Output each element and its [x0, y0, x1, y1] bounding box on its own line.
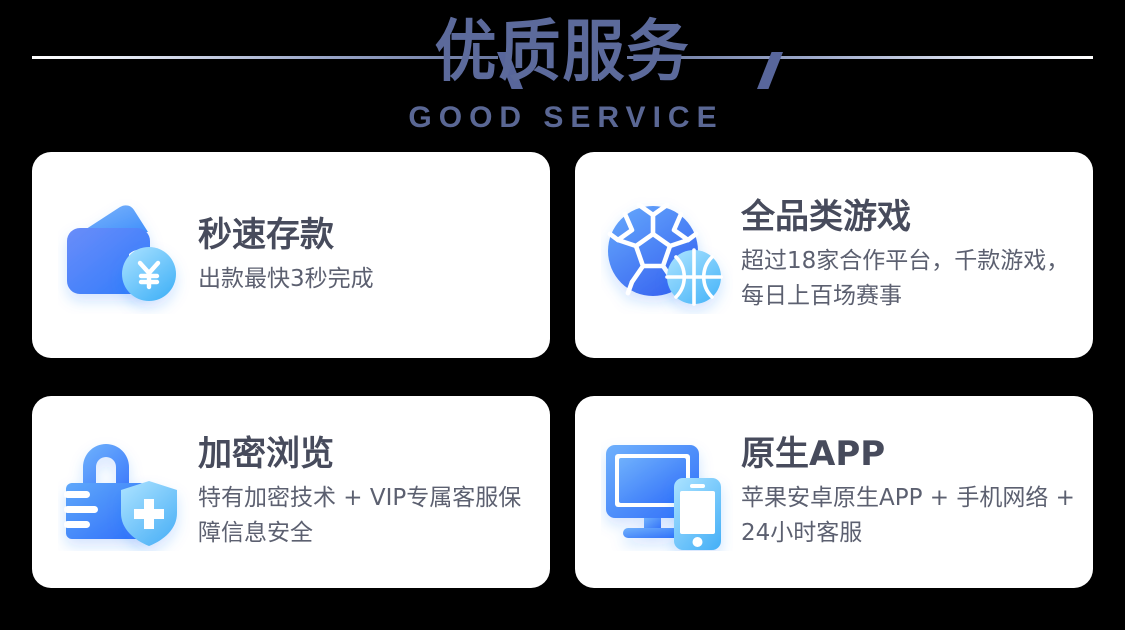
- card-text-column: 加密浏览 特有加密技术 + VIP专属客服保障信息安全: [198, 433, 550, 551]
- card-text-column: 原生APP 苹果安卓原生APP + 手机网络 + 24小时客服: [741, 433, 1093, 551]
- card-native-app[interactable]: 原生APP 苹果安卓原生APP + 手机网络 + 24小时客服: [575, 396, 1093, 588]
- page-header: 优质服务 GOOD SERVICE: [0, 0, 1125, 145]
- card-title: 秒速存款: [198, 214, 538, 256]
- card-encrypted-browsing[interactable]: 加密浏览 特有加密技术 + VIP专属客服保障信息安全: [32, 396, 550, 588]
- page-title: 优质服务: [0, 11, 1125, 93]
- card-subtitle: 苹果安卓原生APP + 手机网络 + 24小时客服: [741, 481, 1081, 551]
- card-text-column: 全品类游戏 超过18家合作平台，千款游戏，每日上百场赛事: [741, 196, 1093, 314]
- card-subtitle: 特有加密技术 + VIP专属客服保障信息安全: [198, 481, 538, 551]
- wallet-yen-icon: [58, 196, 190, 314]
- card-title: 全品类游戏: [741, 196, 1081, 238]
- card-title: 原生APP: [741, 433, 1081, 475]
- feature-card-grid: 秒速存款 出款最快3秒完成: [32, 152, 1093, 588]
- card-subtitle: 出款最快3秒完成: [198, 262, 538, 297]
- page-subtitle: GOOD SERVICE: [0, 101, 1125, 135]
- soccer-basketball-icon: [601, 196, 733, 314]
- card-title: 加密浏览: [198, 433, 538, 475]
- card-subtitle: 超过18家合作平台，千款游戏，每日上百场赛事: [741, 244, 1081, 314]
- monitor-phone-icon: [601, 433, 733, 551]
- card-text-column: 秒速存款 出款最快3秒完成: [198, 214, 550, 297]
- lock-shield-icon: [58, 433, 190, 551]
- card-fast-deposit[interactable]: 秒速存款 出款最快3秒完成: [32, 152, 550, 358]
- card-all-games[interactable]: 全品类游戏 超过18家合作平台，千款游戏，每日上百场赛事: [575, 152, 1093, 358]
